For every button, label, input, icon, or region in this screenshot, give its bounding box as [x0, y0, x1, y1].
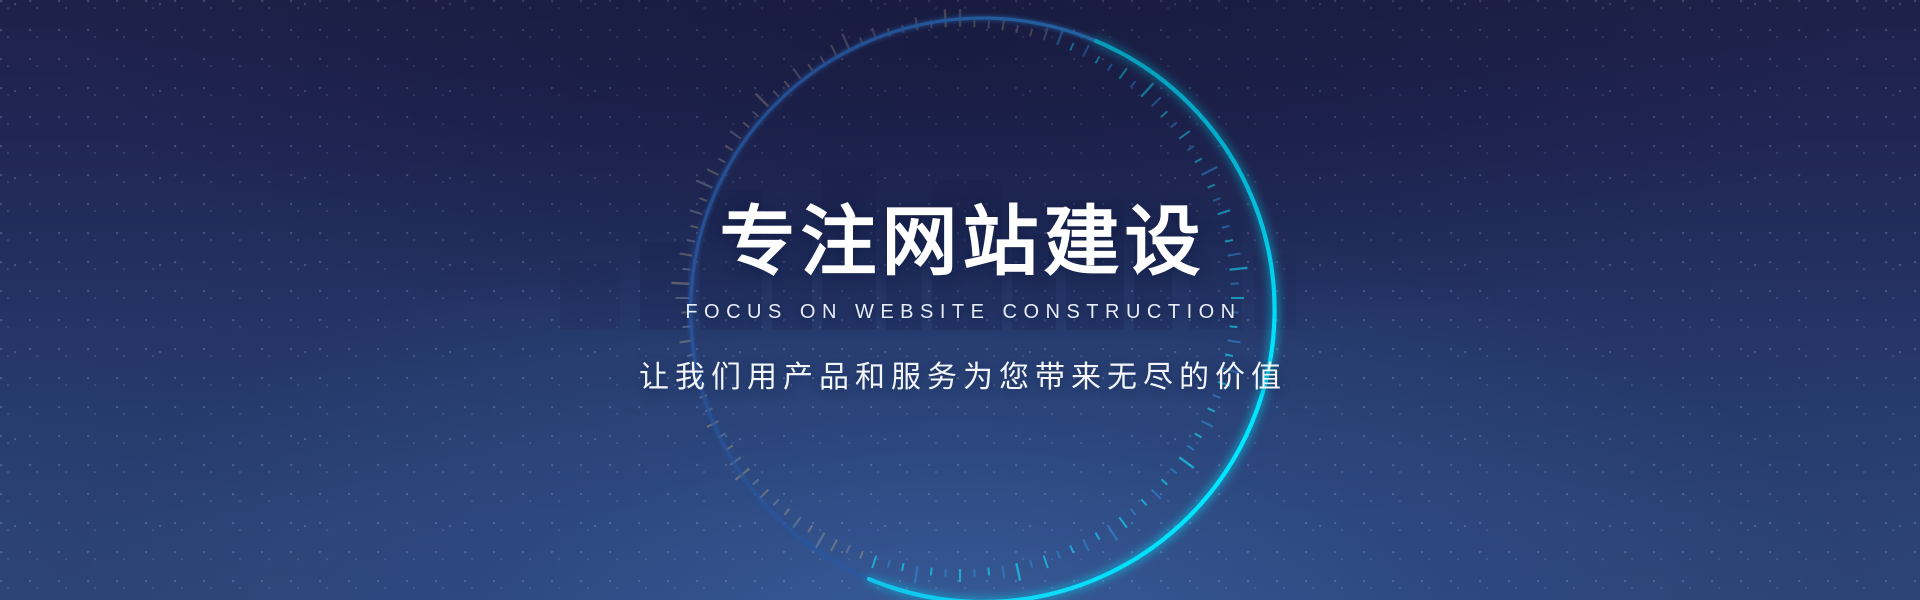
banner-tagline: 让我们用产品和服务为您带来无尽的价值 — [633, 352, 1287, 396]
hero-banner: 专注网站建设 FOCUS ON WEBSITE CONSTRUCTION 让我们… — [0, 0, 1920, 600]
banner-content: 专注网站建设 FOCUS ON WEBSITE CONSTRUCTION 让我们… — [0, 0, 1920, 600]
banner-headline: 专注网站建设 — [715, 205, 1206, 281]
banner-subtitle: FOCUS ON WEBSITE CONSTRUCTION — [678, 301, 1241, 324]
